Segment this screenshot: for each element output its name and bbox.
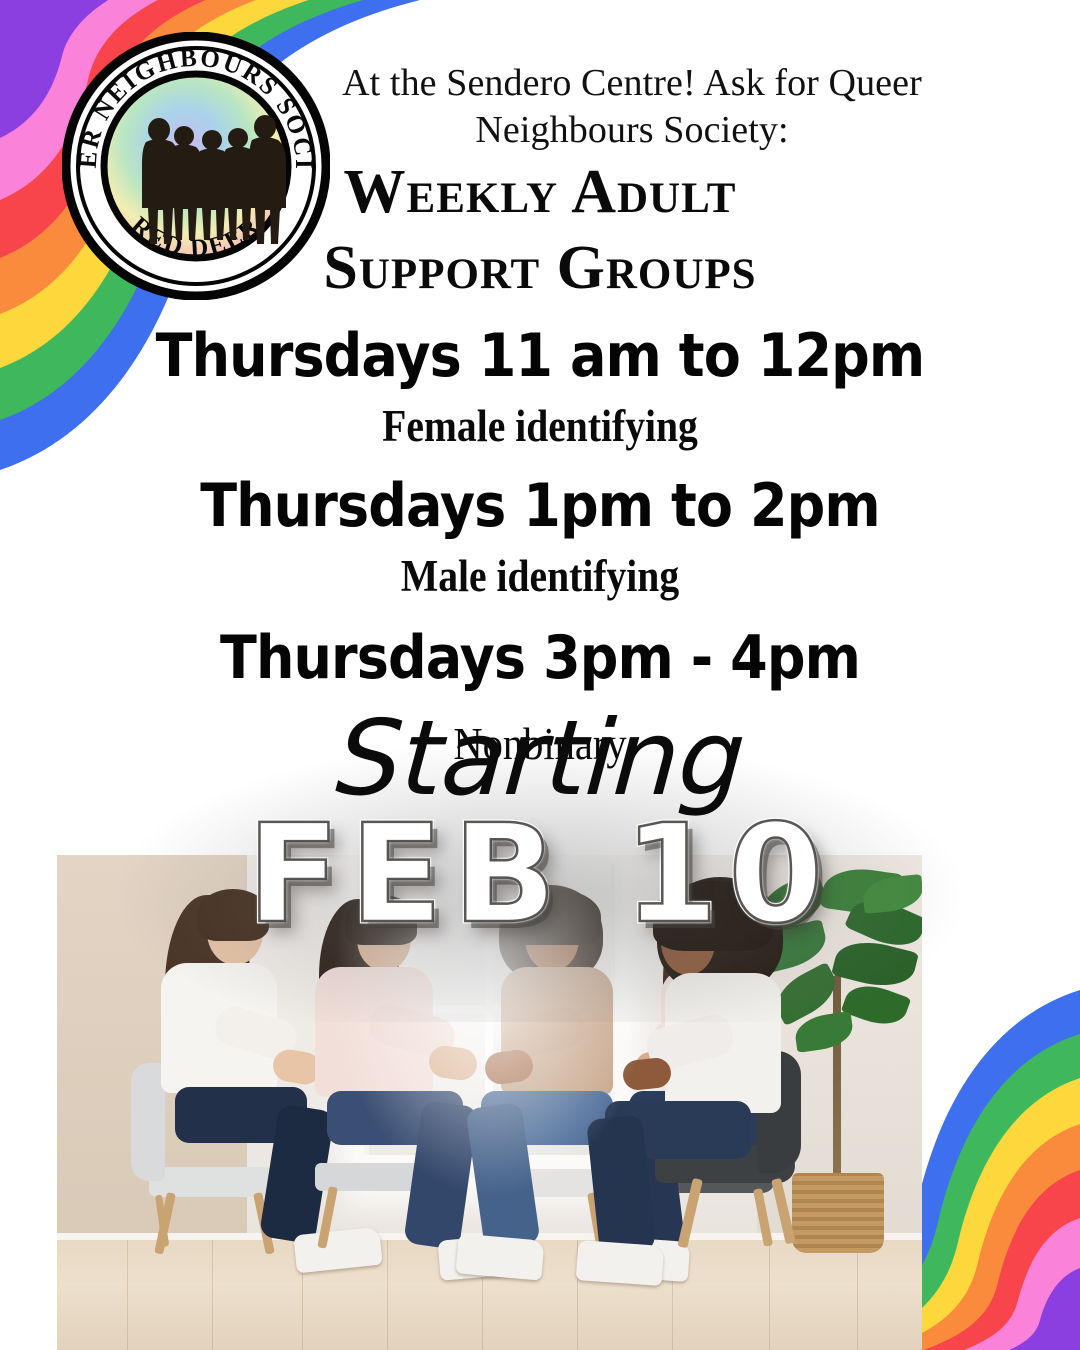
title-line-2: Support Groups	[0, 230, 1080, 306]
start-date: FEB 10	[247, 800, 833, 950]
intro-line: At the Sendero Centre! Ask for Queer Nei…	[322, 60, 942, 154]
photo-plant-trunk	[833, 975, 841, 1180]
session-2-group: Male identifying	[65, 548, 1015, 604]
session-1-group: Female identifying	[65, 398, 1015, 454]
title-line-1: Weekly Adult	[0, 154, 1080, 230]
session-1-day-time: Thursdays 11 am to 12pm	[54, 320, 1026, 392]
session-2-day-time: Thursdays 1pm to 2pm	[54, 470, 1026, 542]
poster-copy: At the Sendero Centre! Ask for Queer Nei…	[0, 0, 1080, 772]
start-date-wrap: FEB 10	[0, 800, 1080, 950]
starting-script-wrap: Starting	[0, 706, 1080, 810]
starting-word: Starting	[333, 706, 747, 810]
photo-plant-basket	[792, 1173, 884, 1253]
session-3-day-time: Thursdays 3pm - 4pm	[54, 622, 1026, 694]
poster-canvas: QUEER NEIGHBOURS SOCIETY RED DEER	[0, 0, 1080, 1350]
